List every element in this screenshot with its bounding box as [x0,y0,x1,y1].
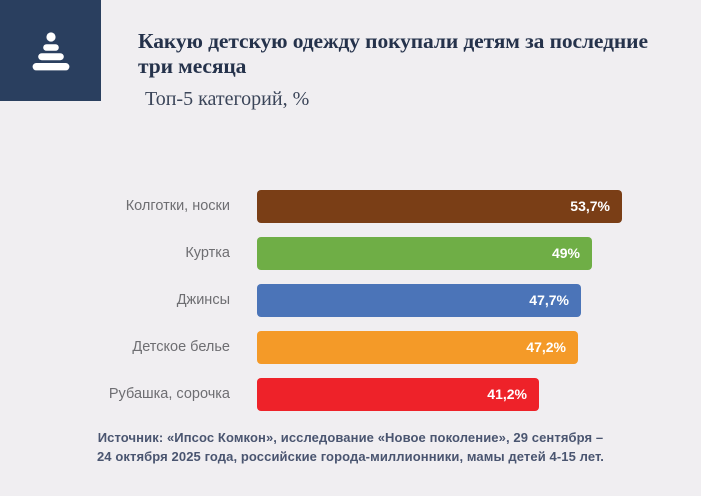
bar-row: Джинсы 47,7% [0,284,701,317]
bar-row: Рубашка, сорочка 41,2% [0,378,701,411]
bar-value-label: 49% [552,237,580,270]
footer: Источник: «Ипсос Комкон», исследование «… [0,428,701,466]
infographic-canvas: Какую детскую одежду покупали детям за п… [0,0,701,496]
bar-fill[interactable]: 53,7% [257,190,622,223]
logo-box [0,0,101,101]
bar-row: Колготки, носки 53,7% [0,190,701,223]
bar-fill[interactable]: 49% [257,237,592,270]
bar-chart: Колготки, носки 53,7% Куртка 49% Джинсы … [0,178,701,414]
bar-category-label: Куртка [40,237,230,270]
pyramid-stacking-toy-icon [28,28,74,74]
bar-category-label: Детское белье [40,331,230,364]
bar-category-label: Рубашка, сорочка [40,378,230,411]
bar-fill[interactable]: 47,2% [257,331,578,364]
page-title: Какую детскую одежду покупали детям за п… [138,29,683,79]
bar-category-label: Джинсы [40,284,230,317]
bar-track: 47,7% [257,284,581,317]
header: Какую детскую одежду покупали детям за п… [0,0,701,135]
bar-track: 47,2% [257,331,578,364]
bar-fill[interactable]: 41,2% [257,378,539,411]
bar-fill[interactable]: 47,7% [257,284,581,317]
bar-row: Детское белье 47,2% [0,331,701,364]
bar-track: 41,2% [257,378,539,411]
bar-track: 49% [257,237,592,270]
bar-row: Куртка 49% [0,237,701,270]
bar-track: 53,7% [257,190,622,223]
bar-value-label: 47,2% [526,331,566,364]
page-subtitle: Топ-5 категорий, % [138,87,683,111]
bar-value-label: 47,7% [529,284,569,317]
bar-value-label: 53,7% [570,190,610,223]
title-block: Какую детскую одежду покупали детям за п… [138,29,683,111]
bar-value-label: 41,2% [487,378,527,411]
source-note: Источник: «Ипсос Комкон», исследование «… [0,428,701,466]
bar-category-label: Колготки, носки [40,190,230,223]
